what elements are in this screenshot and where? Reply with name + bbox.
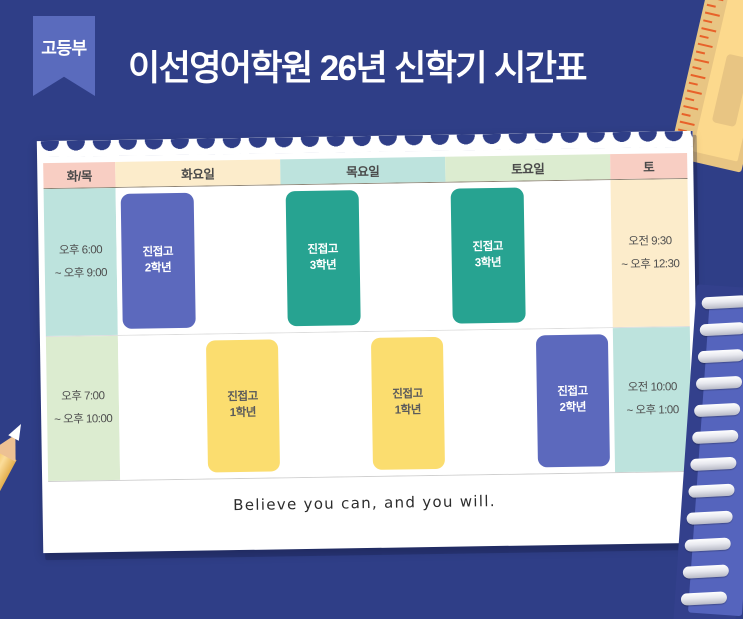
poster-canvas: 고등부 이선영어학원 26년 신학기 시간표 화/목 화요일 목요일 토요일 토… (0, 0, 743, 619)
scalloped-top-edge (37, 131, 693, 157)
slot-r1-c1[interactable]: 진접고 2학년 (116, 187, 201, 335)
class-block[interactable]: 진접고 3학년 (286, 190, 361, 326)
slot-r1-c5[interactable]: 진접고 3학년 (446, 181, 531, 329)
slot-r1-c2[interactable] (198, 185, 283, 333)
column-header-tuesday: 화요일 (115, 159, 280, 187)
pencil-icon (0, 418, 32, 619)
class-school: 진접고 (142, 245, 173, 261)
table-row: 오후 7:00 ~ 오후 10:00 진접고 1학년 진접고 1학년 (46, 327, 692, 482)
class-block[interactable]: 진접고 1학년 (370, 337, 445, 470)
class-grade: 2학년 (560, 401, 587, 417)
time-end: ~ 오후 12:30 (621, 253, 679, 277)
class-school: 진접고 (227, 390, 258, 406)
timetable-sheet: 화/목 화요일 목요일 토요일 토 오후 6:00 ~ 오후 9:00 진접고 … (37, 131, 699, 553)
slot-r1-c4[interactable] (363, 183, 448, 331)
class-block[interactable]: 진접고 2학년 (121, 193, 196, 329)
slot-r2-c3[interactable] (283, 332, 368, 477)
class-block[interactable]: 진접고 3학년 (451, 188, 526, 324)
time-start: 오후 6:00 (59, 239, 103, 263)
time-start: 오전 10:00 (628, 376, 677, 400)
time-label-row1-left: 오후 6:00 ~ 오후 9:00 (44, 188, 118, 336)
slot-r1-c3[interactable]: 진접고 3학년 (281, 184, 366, 332)
slot-r2-c4[interactable]: 진접고 1학년 (365, 331, 450, 476)
time-end: ~ 오후 10:00 (54, 408, 112, 432)
time-label-row2-left: 오후 7:00 ~ 오후 10:00 (46, 336, 120, 481)
column-header-day-pair: 화/목 (43, 162, 115, 188)
motivational-quote: Believe you can, and you will. (42, 489, 698, 517)
class-grade: 1학년 (230, 406, 257, 422)
time-end: ~ 오후 9:00 (55, 262, 108, 286)
table-row: 오후 6:00 ~ 오후 9:00 진접고 2학년 진접고 3학년 (44, 179, 690, 337)
class-grade: 2학년 (145, 261, 172, 277)
class-block[interactable]: 진접고 2학년 (535, 334, 610, 467)
class-school: 진접고 (307, 242, 338, 258)
timetable: 화/목 화요일 목요일 토요일 토 오후 6:00 ~ 오후 9:00 진접고 … (43, 153, 692, 482)
column-header-sat-short: 토 (610, 153, 687, 179)
class-grade: 3학년 (310, 258, 337, 274)
slot-r2-c6[interactable]: 진접고 2학년 (530, 328, 615, 473)
class-block[interactable]: 진접고 1학년 (205, 339, 280, 472)
time-start: 오후 7:00 (61, 385, 105, 409)
slot-r1-c6[interactable] (528, 180, 613, 328)
pencil-body (0, 448, 17, 619)
class-grade: 1학년 (395, 403, 422, 419)
class-school: 진접고 (392, 388, 423, 404)
grade-level-badge: 고등부 (33, 16, 95, 96)
slot-r2-c2[interactable]: 진접고 1학년 (200, 333, 285, 478)
time-label-row1-right: 오전 9:30 ~ 오후 12:30 (610, 179, 689, 327)
page-title: 이선영어학원 26년 신학기 시간표 (128, 40, 586, 91)
column-header-thursday: 목요일 (280, 157, 445, 185)
time-label-row2-right: 오전 10:00 ~ 오후 1:00 (613, 327, 692, 472)
class-school: 진접고 (472, 240, 503, 256)
class-school: 진접고 (557, 385, 588, 401)
time-start: 오전 9:30 (628, 230, 672, 254)
class-grade: 3학년 (475, 255, 502, 271)
time-end: ~ 오후 1:00 (626, 399, 679, 423)
slot-r2-c5[interactable] (448, 329, 533, 474)
slot-r2-c1[interactable] (118, 335, 203, 480)
grade-level-badge-label: 고등부 (41, 34, 86, 59)
column-header-saturday: 토요일 (445, 154, 610, 182)
